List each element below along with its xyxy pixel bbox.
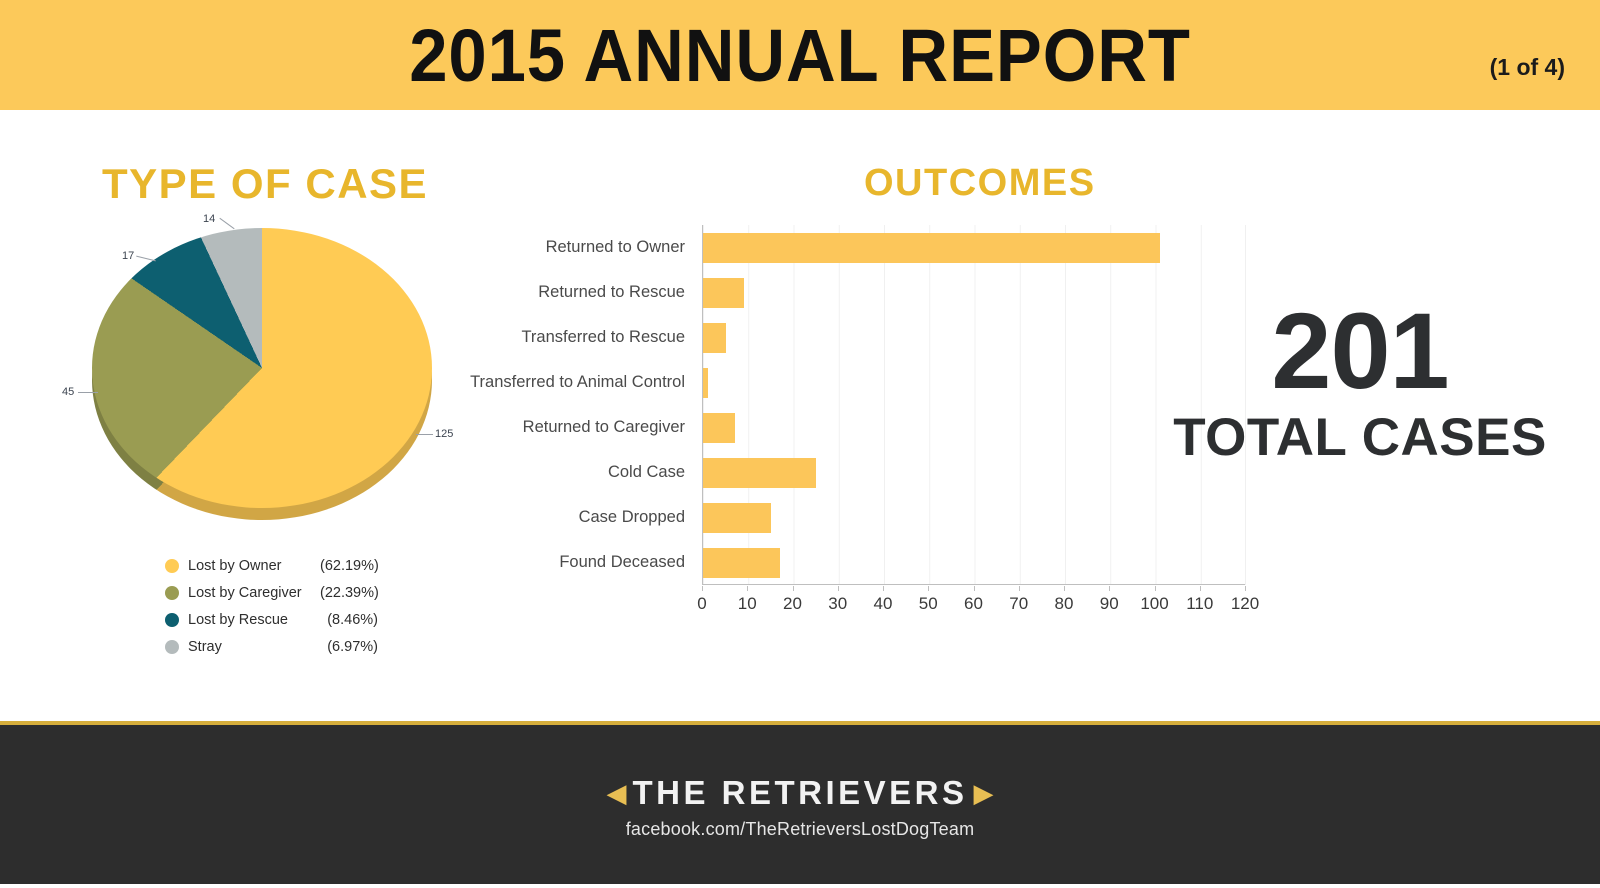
bar-row[interactable]: [703, 540, 1245, 585]
legend-percent: (62.19%): [320, 558, 378, 574]
x-axis-tick-label: 90: [1100, 594, 1119, 614]
pie-data-label-17: 17: [122, 250, 134, 262]
legend-item[interactable]: Stray (6.97%): [165, 633, 378, 660]
footer-band: ◀ THE RETRIEVERS ▶ facebook.com/TheRetri…: [0, 721, 1600, 884]
pie-leader-line-45: [78, 392, 98, 393]
bar-row[interactable]: [703, 495, 1245, 540]
left-arrow-icon: ◀: [606, 780, 626, 806]
bar-segment[interactable]: [703, 323, 726, 353]
header-band: 2015 ANNUAL REPORT (1 of 4): [0, 0, 1600, 110]
legend-label: Lost by Owner: [188, 558, 320, 574]
bar-row[interactable]: [703, 225, 1245, 270]
bar-segment[interactable]: [703, 233, 1160, 263]
legend-swatch-icon: [165, 613, 179, 627]
x-axis-tick-label: 20: [783, 594, 802, 614]
bar-segment[interactable]: [703, 548, 780, 578]
total-cases-block: 201 TOTAL CASES: [1150, 300, 1570, 468]
brand-name: THE RETRIEVERS: [632, 774, 967, 812]
pie-leader-line-125: [416, 434, 433, 435]
x-axis-tick-label: 120: [1231, 594, 1259, 614]
pie-legend: Lost by Owner (62.19%) Lost by Caregiver…: [165, 552, 378, 660]
x-axis-tick-mark: [1019, 586, 1020, 591]
pie-face: [92, 228, 432, 508]
x-axis-tick-mark: [1155, 586, 1156, 591]
bar-segment[interactable]: [703, 278, 744, 308]
brand-row: ◀ THE RETRIEVERS ▶: [606, 774, 993, 812]
right-arrow-icon: ▶: [974, 780, 994, 806]
bar-category-label: Returned to Caregiver: [455, 405, 695, 450]
legend-label: Lost by Rescue: [188, 612, 320, 628]
bar-category-labels: Returned to OwnerReturned to RescueTrans…: [455, 225, 695, 585]
x-axis-tick-label: 30: [828, 594, 847, 614]
legend-swatch-icon: [165, 640, 179, 654]
pie-data-label-14: 14: [203, 213, 215, 225]
pie-data-label-45: 45: [62, 386, 74, 398]
x-axis-tick-label: 50: [919, 594, 938, 614]
legend-label: Lost by Caregiver: [188, 585, 320, 601]
legend-label: Stray: [188, 639, 320, 655]
legend-swatch-icon: [165, 559, 179, 573]
pie-leader-line-14: [219, 218, 234, 229]
x-axis-tick-label: 40: [874, 594, 893, 614]
bar-category-label: Case Dropped: [455, 495, 695, 540]
legend-item[interactable]: Lost by Owner (62.19%): [165, 552, 378, 579]
bar-category-label: Transferred to Animal Control: [455, 360, 695, 405]
total-cases-number: 201: [1150, 300, 1570, 403]
facebook-url[interactable]: facebook.com/TheRetrieversLostDogTeam: [626, 819, 975, 840]
bar-segment[interactable]: [703, 368, 708, 398]
pie-leader-line-17: [136, 256, 156, 262]
x-axis-tick-label: 110: [1186, 594, 1213, 614]
x-axis-tick-label: 100: [1140, 594, 1168, 614]
page-title: 2015 ANNUAL REPORT: [56, 0, 1544, 110]
bar-segment[interactable]: [703, 413, 735, 443]
x-axis-tick-mark: [1200, 586, 1201, 591]
x-axis-tick-mark: [1064, 586, 1065, 591]
bar-segment[interactable]: [703, 458, 816, 488]
x-axis-tick-mark: [1245, 586, 1246, 591]
x-axis-tick-mark: [702, 586, 703, 591]
x-axis-tick-label: 80: [1055, 594, 1074, 614]
legend-swatch-icon: [165, 586, 179, 600]
legend-percent: (8.46%): [320, 612, 378, 628]
x-axis-tick-mark: [974, 586, 975, 591]
legend-percent: (6.97%): [320, 639, 378, 655]
pie-data-label-125: 125: [435, 428, 453, 440]
legend-percent: (22.39%): [320, 585, 378, 601]
page-indicator: (1 of 4): [1490, 54, 1565, 81]
bar-category-label: Cold Case: [455, 450, 695, 495]
bar-segment[interactable]: [703, 503, 771, 533]
x-axis-tick-mark: [928, 586, 929, 591]
bar-chart-title: OUTCOMES: [864, 162, 1096, 205]
bar-chart: Returned to OwnerReturned to RescueTrans…: [455, 225, 1255, 625]
x-axis-tick-label: 0: [697, 594, 706, 614]
x-axis-tick-label: 60: [964, 594, 983, 614]
bar-category-label: Transferred to Rescue: [455, 315, 695, 360]
bar-category-label: Returned to Owner: [455, 225, 695, 270]
x-axis-tick-mark: [838, 586, 839, 591]
bar-category-label: Found Deceased: [455, 540, 695, 585]
pie-chart: 125 45 17 14: [60, 210, 480, 540]
x-axis-tick-label: 70: [1009, 594, 1028, 614]
x-axis: 0102030405060708090100110120: [702, 586, 1262, 616]
x-axis-tick-mark: [793, 586, 794, 591]
x-axis-tick-mark: [1109, 586, 1110, 591]
x-axis-tick-label: 10: [738, 594, 757, 614]
total-cases-label: TOTAL CASES: [1150, 407, 1570, 468]
pie-chart-title: TYPE OF CASE: [102, 160, 428, 208]
bar-category-label: Returned to Rescue: [455, 270, 695, 315]
legend-item[interactable]: Lost by Rescue (8.46%): [165, 606, 378, 633]
x-axis-tick-mark: [747, 586, 748, 591]
x-axis-tick-mark: [883, 586, 884, 591]
legend-item[interactable]: Lost by Caregiver (22.39%): [165, 579, 378, 606]
